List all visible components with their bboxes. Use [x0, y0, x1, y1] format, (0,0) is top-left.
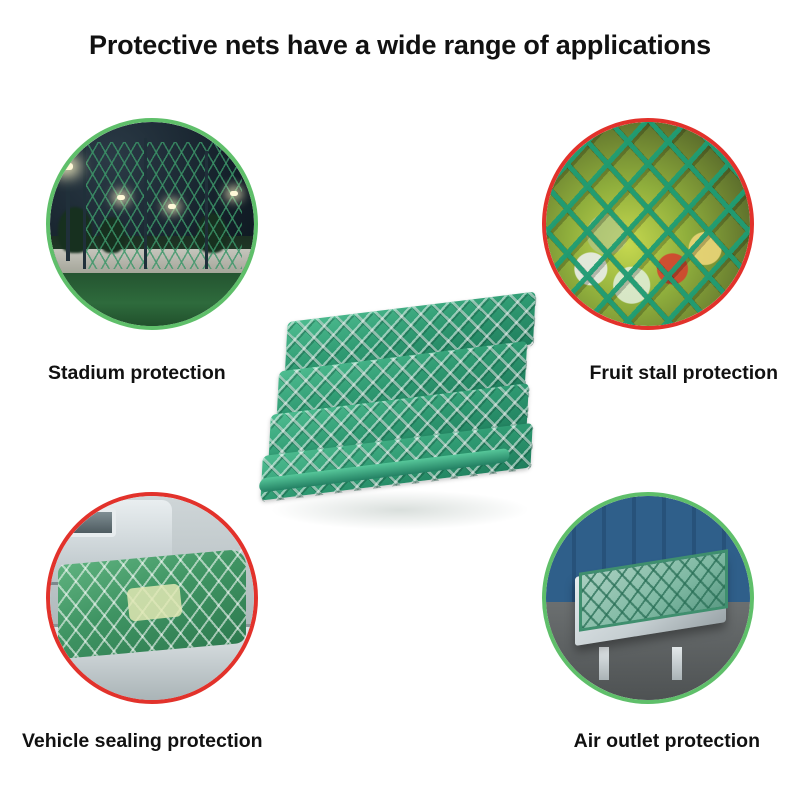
fruit-photo [546, 122, 750, 326]
caption-fruit: Fruit stall protection [589, 362, 778, 385]
air-unit-leg [599, 647, 609, 680]
product-net-stack [278, 292, 535, 500]
net-pole [144, 138, 147, 269]
caption-stadium: Stadium protection [48, 362, 226, 385]
floodlight [60, 163, 73, 170]
stadium-field [50, 269, 254, 326]
vehicle-cargo-bag [126, 583, 182, 621]
caption-vehicle: Vehicle sealing protection [22, 730, 263, 753]
stadium-photo [50, 122, 254, 326]
net-pole [83, 146, 86, 268]
light-pole [66, 167, 70, 261]
vehicle-rear-window [50, 508, 116, 537]
caption-air-outlet: Air outlet protection [574, 730, 760, 753]
photo-bubble-stadium [46, 118, 258, 330]
air-unit-leg [672, 647, 682, 680]
net-pole [205, 151, 208, 269]
air-outlet-photo [546, 496, 750, 700]
page-title: Protective nets have a wide range of app… [0, 30, 800, 61]
poster-root: Protective nets have a wide range of app… [0, 0, 800, 800]
stadium-net-mesh [83, 142, 242, 268]
photo-bubble-vehicle [46, 492, 258, 704]
photo-bubble-air-outlet [542, 492, 754, 704]
photo-bubble-fruit [542, 118, 754, 330]
floodlight [168, 204, 176, 209]
product-photo [240, 300, 570, 550]
floodlight [230, 191, 238, 196]
vehicle-photo [50, 496, 254, 700]
fruit-net-mesh [546, 122, 750, 326]
